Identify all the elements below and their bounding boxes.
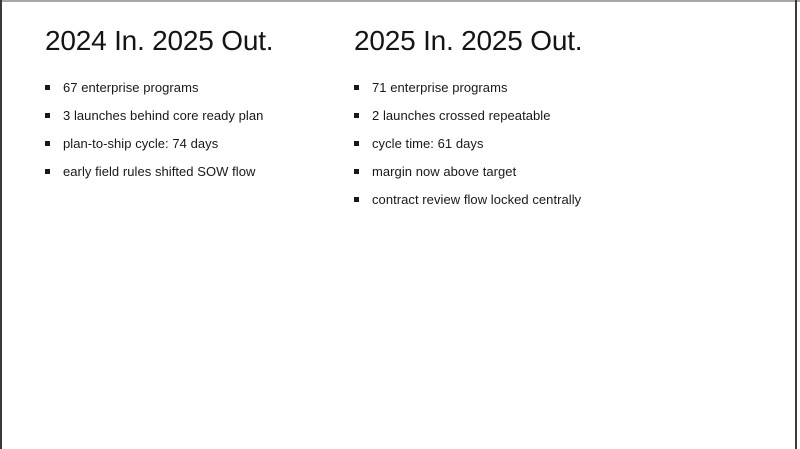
slide-canvas: 2024 In. 2025 Out. 67 enterprise program… — [0, 0, 800, 449]
list-item: margin now above target — [354, 158, 754, 186]
list-item-label: contract review flow locked centrally — [372, 186, 581, 214]
list-item-label: cycle time: 61 days — [372, 130, 484, 158]
column-right-title: 2025 In. 2025 Out. — [354, 24, 582, 58]
column-right-bullet-list: 71 enterprise programs 2 launches crosse… — [354, 74, 754, 214]
square-bullet-icon — [354, 169, 359, 174]
square-bullet-icon — [354, 113, 359, 118]
square-bullet-icon — [45, 113, 50, 118]
list-item: 67 enterprise programs — [45, 74, 354, 102]
slide-columns: 2024 In. 2025 Out. 67 enterprise program… — [0, 0, 800, 449]
square-bullet-icon — [45, 85, 50, 90]
square-bullet-icon — [45, 141, 50, 146]
list-item-label: 2 launches crossed repeatable — [372, 102, 551, 130]
list-item-label: 3 launches behind core ready plan — [63, 102, 263, 130]
list-item-label: plan-to-ship cycle: 74 days — [63, 130, 218, 158]
list-item-label: 71 enterprise programs — [372, 74, 508, 102]
square-bullet-icon — [354, 85, 359, 90]
list-item: early field rules shifted SOW flow — [45, 158, 354, 186]
square-bullet-icon — [354, 141, 359, 146]
list-item-label: margin now above target — [372, 158, 516, 186]
column-left-title: 2024 In. 2025 Out. — [45, 24, 273, 58]
list-item: 71 enterprise programs — [354, 74, 754, 102]
square-bullet-icon — [45, 169, 50, 174]
list-item-label: 67 enterprise programs — [63, 74, 199, 102]
list-item: cycle time: 61 days — [354, 130, 754, 158]
list-item: contract review flow locked centrally — [354, 186, 754, 214]
column-left: 2024 In. 2025 Out. 67 enterprise program… — [0, 0, 354, 186]
list-item-label: early field rules shifted SOW flow — [63, 158, 255, 186]
list-item: 2 launches crossed repeatable — [354, 102, 754, 130]
column-right: 2025 In. 2025 Out. 71 enterprise program… — [354, 0, 754, 214]
square-bullet-icon — [354, 197, 359, 202]
list-item: plan-to-ship cycle: 74 days — [45, 130, 354, 158]
list-item: 3 launches behind core ready plan — [45, 102, 354, 130]
column-left-bullet-list: 67 enterprise programs 3 launches behind… — [45, 74, 354, 186]
